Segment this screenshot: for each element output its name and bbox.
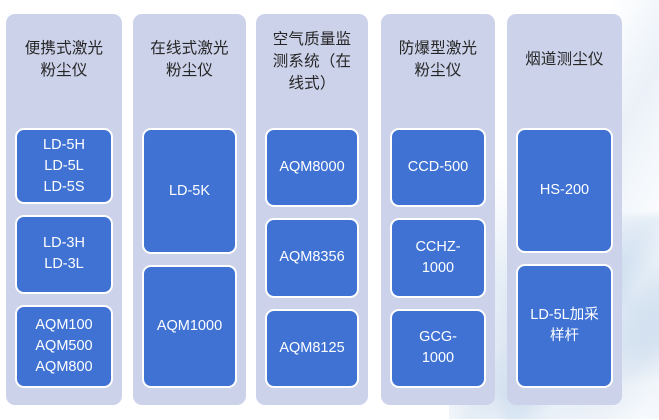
product-card-label: LD-5H LD-5L LD-5S xyxy=(43,135,85,198)
product-card[interactable]: HS-200 xyxy=(516,128,613,253)
product-card[interactable]: LD-5L加采 样杆 xyxy=(516,264,613,389)
category-column-air-quality-monitoring-system[interactable]: 空气质量监 测系统（在 线式） AQM8000 AQM8356 AQM8125 xyxy=(256,14,368,405)
product-card[interactable]: AQM8125 xyxy=(265,309,359,388)
product-card[interactable]: AQM100 AQM500 AQM800 xyxy=(15,305,113,388)
product-card-label: GCG- 1000 xyxy=(419,327,457,369)
product-card-label: AQM100 AQM500 AQM800 xyxy=(35,315,92,378)
product-card[interactable]: LD-5K xyxy=(142,128,237,254)
product-card-label: AQM8000 xyxy=(279,157,344,178)
product-card[interactable]: GCG- 1000 xyxy=(390,309,486,388)
product-card-label: AQM8125 xyxy=(279,338,344,359)
product-card-label: LD-5K xyxy=(169,181,210,202)
product-card-label: HS-200 xyxy=(540,180,589,201)
product-card-label: LD-5L加采 样杆 xyxy=(530,305,599,347)
product-category-diagram: 便携式激光 粉尘仪 LD-5H LD-5L LD-5S LD-3H LD-3L … xyxy=(0,0,659,419)
product-card[interactable]: CCHZ- 1000 xyxy=(390,218,486,297)
product-card[interactable]: LD-5H LD-5L LD-5S xyxy=(15,128,113,204)
category-column-explosion-proof-laser-dust-meter[interactable]: 防爆型激光 粉尘仪 CCD-500 CCHZ- 1000 GCG- 1000 xyxy=(381,14,495,405)
column-title: 防爆型激光 粉尘仪 xyxy=(381,14,495,82)
category-column-flue-dust-meter[interactable]: 烟道测尘仪 HS-200 LD-5L加采 样杆 xyxy=(507,14,622,405)
product-card-list: AQM8000 AQM8356 AQM8125 xyxy=(265,128,359,388)
product-card-list: HS-200 LD-5L加采 样杆 xyxy=(516,128,613,388)
product-card-list: LD-5H LD-5L LD-5S LD-3H LD-3L AQM100 AQM… xyxy=(15,128,113,388)
product-card-list: LD-5K AQM1000 xyxy=(142,128,237,388)
product-card[interactable]: AQM8356 xyxy=(265,218,359,297)
column-title: 空气质量监 测系统（在 线式） xyxy=(256,14,368,95)
column-title: 便携式激光 粉尘仪 xyxy=(6,14,122,82)
product-card-label: AQM8356 xyxy=(279,247,344,268)
product-card[interactable]: AQM8000 xyxy=(265,128,359,207)
product-card[interactable]: AQM1000 xyxy=(142,265,237,388)
column-title: 在线式激光 粉尘仪 xyxy=(133,14,246,82)
category-column-online-laser-dust-meter[interactable]: 在线式激光 粉尘仪 LD-5K AQM1000 xyxy=(133,14,246,405)
product-card[interactable]: CCD-500 xyxy=(390,128,486,207)
product-card-label: CCHZ- 1000 xyxy=(415,237,460,279)
product-card-label: AQM1000 xyxy=(157,316,222,337)
product-card[interactable]: LD-3H LD-3L xyxy=(15,215,113,294)
product-card-label: CCD-500 xyxy=(408,157,468,178)
product-card-label: LD-3H LD-3L xyxy=(43,233,85,275)
product-card-list: CCD-500 CCHZ- 1000 GCG- 1000 xyxy=(390,128,486,388)
column-title: 烟道测尘仪 xyxy=(507,14,622,71)
category-column-portable-laser-dust-meter[interactable]: 便携式激光 粉尘仪 LD-5H LD-5L LD-5S LD-3H LD-3L … xyxy=(6,14,122,405)
